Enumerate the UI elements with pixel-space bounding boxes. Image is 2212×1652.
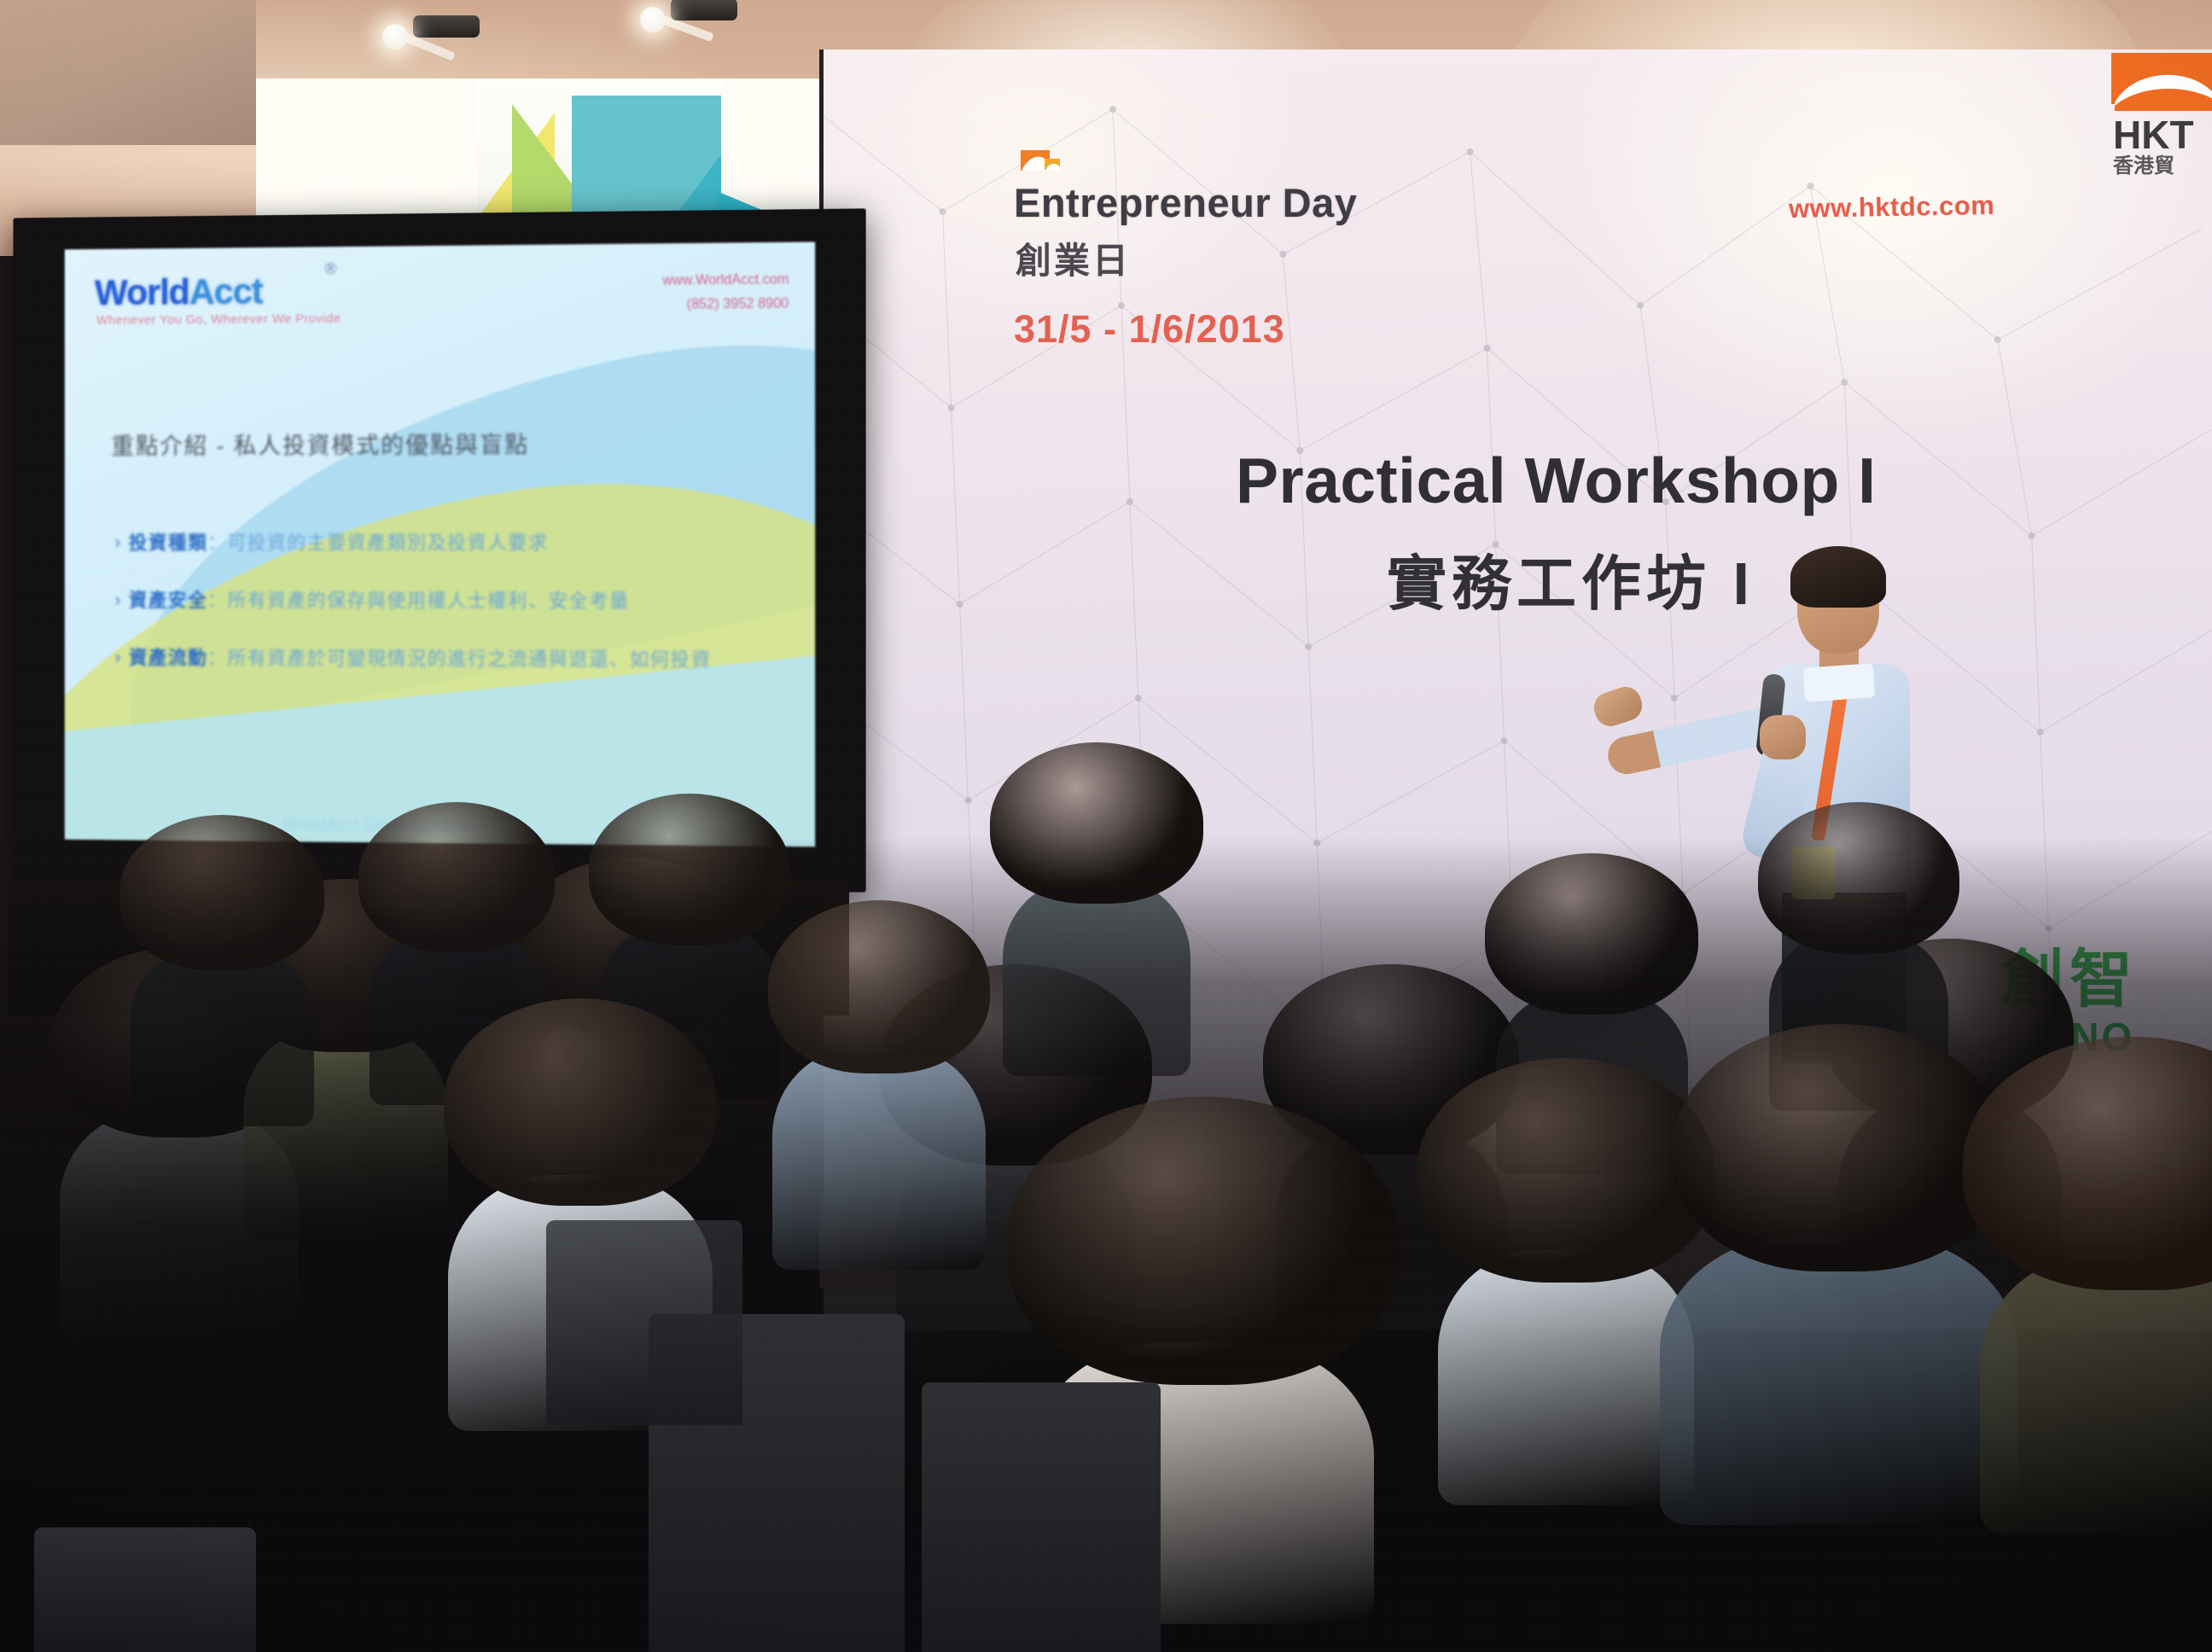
organiser-url: www.hktdc.com: [1789, 190, 1995, 224]
slide-bullet-2-body: ：所有資產的保存與使用權人士權利、安全考量: [207, 590, 630, 612]
slide-contact-block: www.WorldAcct.com (852) 3952 8900: [662, 268, 789, 317]
chair: [546, 1220, 742, 1425]
presenter-collar: [1803, 663, 1876, 702]
venue-wall-left: [0, 0, 256, 145]
workshop-title-en: Practical Workshop I: [1236, 444, 1877, 517]
slide-brand-world: World: [95, 272, 189, 313]
slide-brand-logo: WorldAcct: [95, 271, 263, 313]
projection-screen: WorldAcct ® Whenever You Go, Wherever We…: [13, 208, 865, 892]
audience-person-torso: [772, 1048, 986, 1270]
slide-bullet-2-head: 資產安全: [129, 590, 208, 611]
slide-bullet-3-body: ：所有資產於可變現情況的進行之流通與退還、如何投資: [207, 647, 711, 670]
audience-person-head: [1417, 1058, 1715, 1283]
chair: [922, 1382, 1161, 1652]
audience-person-head: [1007, 1096, 1400, 1385]
entrepreneur-day-logo-icon: [1021, 150, 1072, 183]
event-title-en: Entrepreneur Day: [1014, 179, 1357, 226]
slide-brand-acct: Acct: [189, 271, 263, 311]
audience-person-torso: [1660, 1235, 2018, 1525]
audience-person-head: [768, 900, 990, 1073]
slide-bullet-3: › 資產流動：所有資產於可變現情況的進行之流通與退還、如何投資: [114, 643, 711, 672]
slide-title: 重點介紹 - 私人投資模式的優點與盲點: [111, 427, 529, 462]
slide-contact-url: www.WorldAcct.com: [662, 268, 789, 294]
slide-bullet-1-head: 投資種類: [129, 532, 208, 553]
workshop-title-zh: 實務工作坊 I: [1387, 536, 1755, 622]
audience-person-torso: [1438, 1249, 1694, 1505]
slide-bullet-2: › 資產安全：所有資產的保存與使用權人士權利、安全考量: [114, 585, 630, 614]
hktdc-logo-icon: HKT 香港貿: [2106, 53, 2212, 181]
slide-brand-registered-icon: ®: [325, 260, 337, 279]
event-dates: 31/5 - 1/6/2013: [1014, 307, 1285, 352]
slide-contact-phone: (852) 3952 8900: [662, 292, 789, 317]
audience-person-head: [444, 998, 717, 1206]
photo-scene: Entrepreneur Day 創業日 31/5 - 1/6/2013 www…: [0, 0, 2212, 1652]
presentation-slide: WorldAcct ® Whenever You Go, Wherever We…: [65, 241, 815, 846]
event-title-zh: 創業日: [1016, 232, 1131, 284]
chair: [34, 1527, 256, 1652]
audience-person-head: [1673, 1024, 2005, 1271]
svg-text:香港貿: 香港貿: [2113, 154, 2174, 177]
slide-bullet-1-body: ：可投資的主要資產類別及投資人要求: [207, 532, 548, 553]
slide-bullet-1: › 投資種類：可投資的主要資產類別及投資人要求: [114, 527, 548, 555]
slide-bullet-3-head: 資產流動: [129, 647, 208, 668]
presenter-mic-hand: [1760, 715, 1806, 759]
svg-text:HKT: HKT: [2113, 113, 2194, 157]
presenter-hair: [1790, 546, 1886, 608]
slide-tagline: Whenever You Go, Wherever We Provide: [96, 311, 341, 328]
audience-person-torso: [1980, 1253, 2212, 1534]
